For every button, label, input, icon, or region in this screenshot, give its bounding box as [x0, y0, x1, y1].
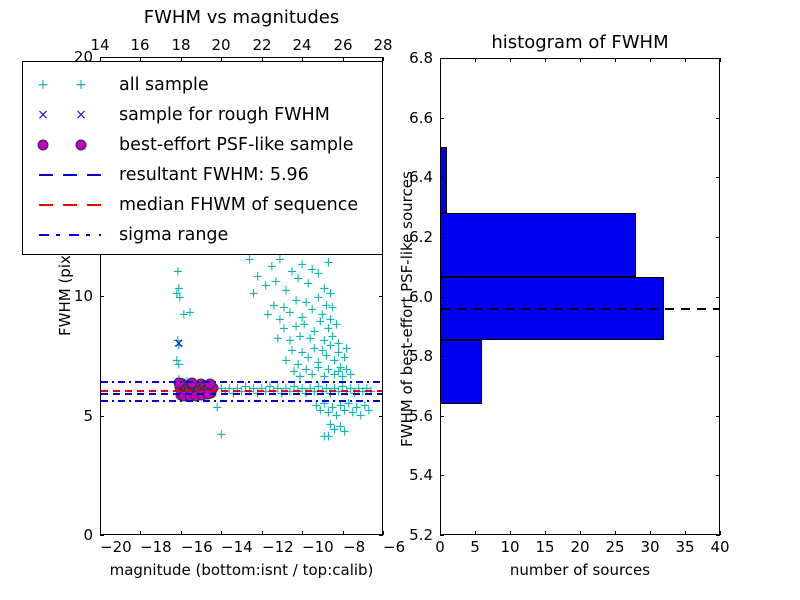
histogram-x-tick — [510, 531, 511, 535]
scatter-point-all-sample: + — [331, 409, 342, 422]
scatter-point-all-sample: + — [315, 404, 326, 417]
scatter-point-all-sample: + — [305, 333, 316, 346]
histogram-x-top-tick — [510, 58, 511, 62]
scatter-point-all-sample: + — [323, 323, 334, 336]
scatter-point-all-sample: + — [321, 349, 332, 362]
scatter-point-all-sample: + — [293, 273, 304, 286]
scatter-point-all-sample: + — [325, 287, 336, 300]
histogram-y-right-tick — [716, 535, 720, 536]
histogram-ylabel: FWHM of best-effort PSF-like sources — [398, 171, 416, 447]
sigma-range-upper-line — [101, 381, 382, 383]
scatter-point-all-sample: + — [172, 266, 183, 279]
cross-icon: × — [37, 108, 49, 122]
scatter-point-all-sample: + — [297, 311, 308, 324]
histogram-x-top-tick — [720, 58, 721, 62]
scatter-point-all-sample: + — [172, 335, 183, 348]
scatter-point-all-sample: + — [171, 354, 182, 367]
scatter-point-all-sample: + — [307, 304, 318, 317]
scatter-point-all-sample: + — [268, 299, 279, 312]
scatter-point-all-sample: + — [185, 306, 196, 319]
left-plot-bottom-tick — [221, 531, 222, 535]
left-plot-y-right-tick — [379, 57, 383, 58]
histogram-y-tick — [440, 356, 444, 357]
filled-circle-icon — [76, 140, 87, 151]
histogram-xlabel: number of sources — [510, 561, 650, 579]
scatter-point-all-sample: + — [278, 323, 289, 336]
scatter-point-all-sample: + — [309, 325, 320, 338]
scatter-point-all-sample: + — [274, 313, 285, 326]
left-plot-y-tick — [100, 416, 104, 417]
histogram-y-right-tick — [716, 356, 720, 357]
histogram-x-tick-label: 25 — [605, 538, 624, 556]
scatter-point-all-sample: + — [297, 347, 308, 360]
histogram-x-tick — [475, 531, 476, 535]
scatter-point-all-sample: + — [355, 409, 366, 422]
scatter-point-all-sample: + — [266, 261, 277, 274]
scatter-point-all-sample: + — [313, 268, 324, 281]
cross-icon: × — [75, 108, 87, 122]
scatter-point-all-sample: + — [281, 354, 292, 367]
scatter-point-all-sample: + — [339, 352, 350, 365]
scatter-point-all-sample: + — [178, 309, 189, 322]
scatter-point-all-sample: + — [309, 342, 320, 355]
histogram-y-tick — [440, 58, 444, 59]
scatter-point-psf-sample — [186, 378, 197, 389]
scatter-point-all-sample: + — [325, 313, 336, 326]
legend-entry-label: median FHWM of sequence — [119, 195, 358, 215]
histogram-y-tick — [440, 297, 444, 298]
left-plot-bottom-tick — [262, 531, 263, 535]
scatter-point-all-sample: + — [173, 340, 184, 353]
scatter-point-all-sample: + — [252, 270, 263, 283]
scatter-point-all-sample: + — [173, 282, 184, 295]
histogram-x-tick-label: 40 — [710, 538, 729, 556]
scatter-point-all-sample: + — [287, 344, 298, 357]
legend-entry[interactable]: best-effort PSF-like sample — [23, 130, 382, 160]
left-plot-top-tick-label: 18 — [171, 36, 190, 54]
histogram-x-top-tick — [580, 58, 581, 62]
scatter-point-all-sample: + — [260, 280, 271, 293]
scatter-point-all-sample: + — [301, 297, 312, 310]
left-plot-y-tick-label: 5 — [83, 407, 93, 425]
plus-icon: + — [75, 78, 87, 92]
scatter-point-all-sample: + — [171, 287, 182, 300]
scatter-point-all-sample: + — [321, 299, 332, 312]
dash-dot-line-icon — [39, 234, 101, 236]
histogram-bar — [441, 340, 482, 404]
scatter-point-all-sample: + — [285, 335, 296, 348]
histogram-y-tick-label: 5.4 — [409, 466, 433, 484]
scatter-point-all-sample: + — [327, 301, 338, 314]
scatter-point-all-sample: + — [307, 368, 318, 381]
histogram-x-tick-label: 10 — [500, 538, 519, 556]
histogram-data-area — [441, 59, 719, 534]
scatter-point-all-sample: + — [363, 404, 374, 417]
histogram-x-tick-label: 20 — [570, 538, 589, 556]
histogram-x-tick — [615, 531, 616, 535]
left-plot-ylabel: FWHM (pix) — [56, 249, 74, 336]
scatter-point-all-sample: + — [295, 330, 306, 343]
scatter-point-all-sample: + — [303, 278, 314, 291]
scatter-point-all-sample: + — [274, 254, 285, 267]
left-plot-y-right-tick — [379, 296, 383, 297]
left-plot-xlabel: magnitude (bottom:isnt / top:calib) — [110, 561, 374, 579]
filled-circle-icon — [38, 140, 49, 151]
plus-icon: + — [37, 78, 49, 92]
scatter-point-all-sample: + — [244, 254, 255, 267]
histogram-y-right-tick — [716, 177, 720, 178]
left-plot-y-right-tick — [379, 416, 383, 417]
scatter-point-all-sample: + — [333, 347, 344, 360]
histogram-x-top-tick — [650, 58, 651, 62]
left-plot-top-tick-label: 22 — [252, 36, 271, 54]
legend-entry[interactable]: ××sample for rough FWHM — [23, 100, 382, 130]
scatter-point-all-sample: + — [335, 421, 346, 434]
scatter-point-all-sample: + — [333, 337, 344, 350]
scatter-point-all-sample: + — [319, 431, 330, 444]
scatter-point-all-sample: + — [307, 263, 318, 276]
scatter-point-all-sample: + — [281, 285, 292, 298]
scatter-point-all-sample: + — [291, 321, 302, 334]
scatter-point-all-sample: + — [341, 342, 352, 355]
scatter-point-all-sample: + — [341, 364, 352, 377]
scatter-point-all-sample: + — [313, 356, 324, 369]
histogram-y-right-tick — [716, 297, 720, 298]
histogram-y-tick-label: 6.6 — [409, 109, 433, 127]
left-plot-y-tick — [100, 57, 104, 58]
histogram-y-right-tick — [716, 416, 720, 417]
legend-entry[interactable]: resultant FWHM: 5.96 — [23, 160, 382, 190]
scatter-point-all-sample: + — [323, 256, 334, 269]
left-plot-top-tick-label: 26 — [333, 36, 352, 54]
resultant-fwhm-line — [101, 393, 382, 395]
histogram-x-tick — [545, 531, 546, 535]
scatter-point-all-sample: + — [327, 330, 338, 343]
legend-entry[interactable]: ++all sample — [23, 70, 382, 100]
legend-entry-label: sigma range — [119, 225, 228, 245]
scatter-point-all-sample: + — [317, 309, 328, 322]
legend-entry-label: sample for rough FWHM — [119, 105, 330, 125]
histogram-x-top-tick — [475, 58, 476, 62]
scatter-point-all-sample: + — [325, 419, 336, 432]
legend-entry-label: best-effort PSF-like sample — [119, 135, 354, 155]
scatter-point-all-sample: + — [278, 301, 289, 314]
left-plot-bottom-tick — [302, 531, 303, 535]
scatter-point-all-sample: + — [335, 361, 346, 374]
histogram-x-tick-label: 35 — [675, 538, 694, 556]
scatter-point-all-sample: + — [173, 359, 184, 372]
scatter-point-all-sample: + — [299, 318, 310, 331]
scatter-point-all-sample: + — [339, 426, 350, 439]
scatter-point-all-sample: + — [333, 366, 344, 379]
legend-entry[interactable]: sigma range — [23, 220, 382, 250]
left-plot-y-tick — [100, 535, 104, 536]
histogram-x-tick — [580, 531, 581, 535]
scatter-point-all-sample: + — [270, 275, 281, 288]
scatter-point-all-sample: + — [325, 340, 336, 353]
left-plot-y-tick-label: 10 — [74, 287, 93, 305]
histogram-x-top-tick — [685, 58, 686, 62]
scatter-point-all-sample: + — [287, 266, 298, 279]
scatter-point-all-sample: + — [317, 344, 328, 357]
left-plot-bottom-tick — [140, 531, 141, 535]
histogram-x-tick — [685, 531, 686, 535]
dashed-line-icon — [39, 174, 101, 176]
left-plot-top-tick-label: 24 — [292, 36, 311, 54]
scatter-point-all-sample: + — [248, 287, 259, 300]
scatter-point-all-sample: + — [323, 364, 334, 377]
histogram-x-tick — [650, 531, 651, 535]
histogram-x-tick-label: 0 — [435, 538, 445, 556]
scatter-point-all-sample: + — [301, 364, 312, 377]
scatter-point-psf-sample — [173, 378, 184, 389]
scatter-point-all-sample: + — [319, 335, 330, 348]
scatter-point-all-sample: + — [329, 423, 340, 436]
histogram-y-tick — [440, 475, 444, 476]
histogram-x-top-tick — [615, 58, 616, 62]
histogram-y-tick — [440, 416, 444, 417]
left-plot-top-tick — [383, 57, 384, 61]
scatter-point-all-sample: + — [313, 361, 324, 374]
histogram-y-tick-label: 6.8 — [409, 49, 433, 67]
scatter-point-all-sample: + — [323, 431, 334, 444]
scatter-point-all-sample: + — [272, 333, 283, 346]
scatter-point-all-sample: + — [293, 359, 304, 372]
scatter-point-all-sample: + — [285, 306, 296, 319]
histogram-y-tick-label: 5.2 — [409, 526, 433, 544]
histogram-x-top-tick — [545, 58, 546, 62]
scatter-point-all-sample: + — [319, 282, 330, 295]
scatter-point-all-sample: + — [297, 258, 308, 271]
histogram-y-right-tick — [716, 118, 720, 119]
histogram-y-tick — [440, 535, 444, 536]
histogram-y-right-tick — [716, 237, 720, 238]
left-plot-top-tick-label: 28 — [373, 36, 392, 54]
histogram-y-tick — [440, 237, 444, 238]
histogram-title: histogram of FWHM — [491, 32, 668, 53]
left-plot-y-tick — [100, 296, 104, 297]
left-plot-bottom-tick — [383, 531, 384, 535]
histogram-x-tick-label: 30 — [640, 538, 659, 556]
scatter-point-all-sample: + — [345, 368, 356, 381]
sigma-range-lower-line — [101, 400, 382, 402]
scatter-point-all-sample: + — [347, 407, 358, 420]
scatter-point-all-sample: + — [327, 402, 338, 415]
histogram-y-right-tick — [716, 58, 720, 59]
dashed-line-icon — [39, 204, 101, 206]
legend-entry[interactable]: median FHWM of sequence — [23, 190, 382, 220]
left-plot-top-tick-label: 14 — [90, 36, 109, 54]
scatter-point-all-sample: + — [216, 428, 227, 441]
scatter-point-all-sample: + — [174, 292, 185, 305]
figure-canvas: ++++++++++++++++++++++++++++++++++++++++… — [0, 0, 800, 600]
scatter-point-all-sample: + — [289, 366, 300, 379]
legend-entry-label: all sample — [119, 75, 209, 95]
scatter-point-all-sample: + — [291, 294, 302, 307]
legend-box: ++all sample××sample for rough FWHMbest-… — [22, 61, 383, 255]
histogram-y-tick — [440, 177, 444, 178]
legend-entry-label: resultant FWHM: 5.96 — [119, 165, 309, 185]
left-plot-top-tick-label: 16 — [130, 36, 149, 54]
left-plot-bottom-tick — [181, 531, 182, 535]
histogram-x-tick-label: 15 — [535, 538, 554, 556]
left-plot-top-tick-label: 20 — [211, 36, 230, 54]
left-plot-y-tick-label: 0 — [83, 526, 93, 544]
left-plot-y-right-tick — [379, 535, 383, 536]
histogram-median-line — [441, 308, 719, 310]
scatter-point-all-sample: + — [303, 352, 314, 365]
left-plot-bottom-tick — [343, 531, 344, 535]
scatter-point-rough-sample: × — [173, 337, 184, 350]
histogram-y-right-tick — [716, 475, 720, 476]
histogram-bar — [441, 147, 447, 213]
histogram-x-tick — [720, 531, 721, 535]
scatter-point-all-sample: + — [313, 292, 324, 305]
histogram-y-tick — [440, 118, 444, 119]
scatter-point-all-sample: + — [212, 402, 223, 415]
scatter-point-all-sample: + — [323, 407, 334, 420]
scatter-point-all-sample: + — [329, 354, 340, 367]
scatter-point-all-sample: + — [339, 404, 350, 417]
left-plot-title: FWHM vs magnitudes — [144, 7, 339, 28]
histogram-x-tick-label: 5 — [470, 538, 480, 556]
scatter-point-all-sample: + — [351, 402, 362, 415]
scatter-point-all-sample: + — [262, 309, 273, 322]
histogram-bar — [441, 213, 636, 277]
scatter-point-all-sample: + — [331, 318, 342, 331]
scatter-point-all-sample: + — [315, 316, 326, 329]
scatter-point-all-sample: + — [329, 368, 340, 381]
